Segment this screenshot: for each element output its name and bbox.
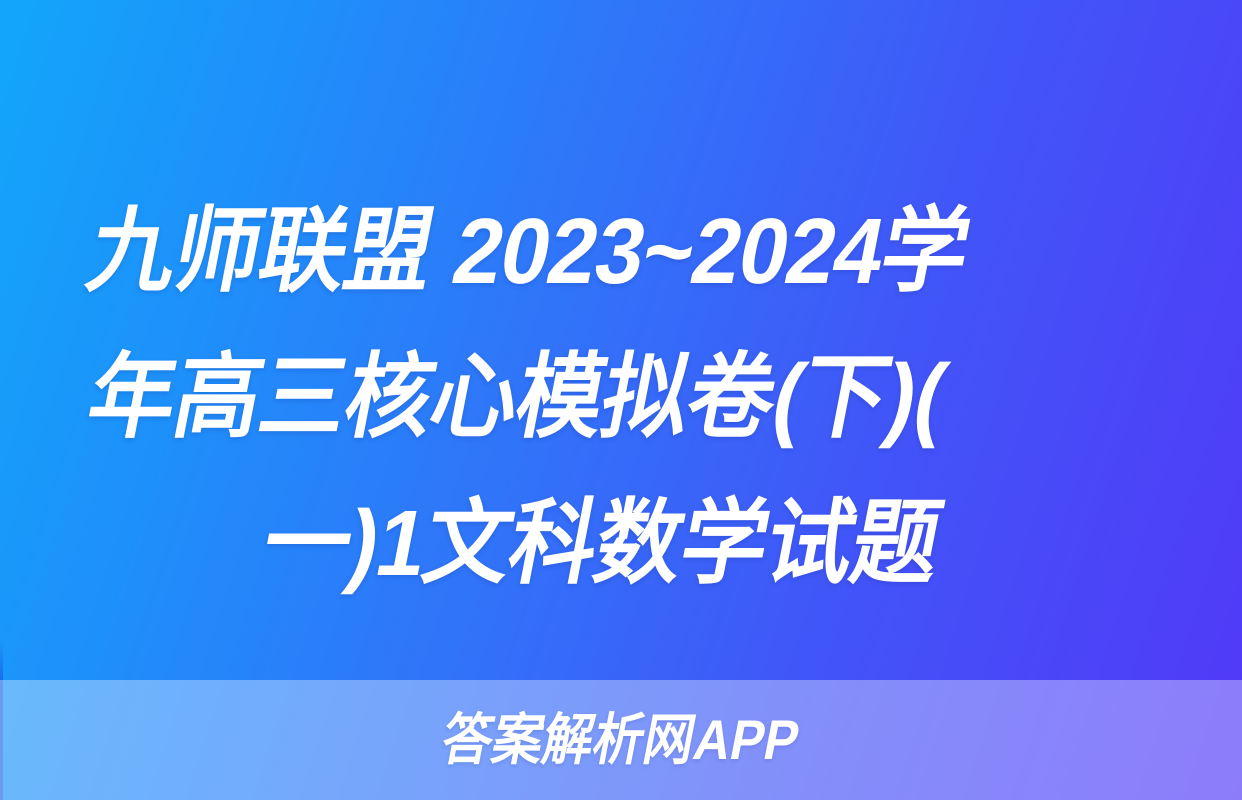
title-block: 九师联盟 2023~2024学 年高三核心模拟卷(下)( 一)1文科数学试题 [90, 178, 1164, 618]
footer-brand-label: 答案解析网APP [438, 712, 805, 768]
footer-watermark-band: 答案解析网APP [0, 680, 1242, 800]
poster-canvas: 九师联盟 2023~2024学 年高三核心模拟卷(下)( 一)1文科数学试题 答… [0, 0, 1242, 800]
title-line-3: 一)1文科数学试题 [76, 470, 1103, 616]
title-line-1: 九师联盟 2023~2024学 [76, 178, 1103, 324]
title-line-2: 年高三核心模拟卷(下)( [76, 324, 1103, 470]
